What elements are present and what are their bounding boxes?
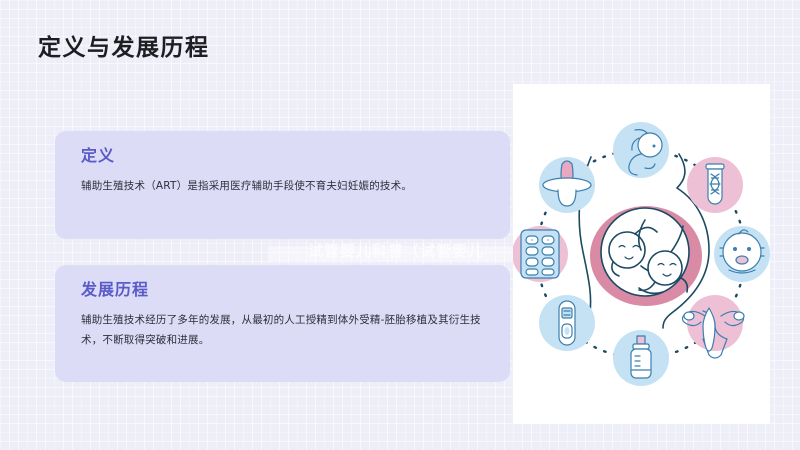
page-title: 定义与发展历程 bbox=[38, 28, 210, 62]
watermark-band bbox=[268, 246, 514, 261]
card-definition-body: 辅助生殖技术（ART）是指采用医疗辅助手段使不育夫妇妊娠的技术。 bbox=[81, 177, 484, 197]
baby-bottle-icon bbox=[613, 330, 669, 386]
dna-test-tube-icon bbox=[687, 157, 743, 213]
pregnancy-test-icon bbox=[539, 295, 595, 351]
pill-blister-icon bbox=[513, 226, 568, 282]
fertility-cycle-illustration: .ln { fill:none; stroke:#1c4a63; stroke-… bbox=[513, 84, 770, 424]
baby-face-icon bbox=[714, 226, 770, 282]
pacifier-icon bbox=[539, 157, 595, 213]
fetus-icon bbox=[613, 122, 669, 178]
card-definition: 定义 辅助生殖技术（ART）是指采用医疗辅助手段使不育夫妇妊娠的技术。 bbox=[55, 131, 510, 239]
card-definition-heading: 定义 bbox=[81, 147, 484, 165]
watermark-text: 试管婴儿科普（试管婴儿 bbox=[308, 240, 484, 261]
card-history-heading: 发展历程 bbox=[81, 281, 484, 299]
slide-canvas: 定义与发展历程 定义 辅助生殖技术（ART）是指采用医疗辅助手段使不育夫妇妊娠的… bbox=[0, 0, 800, 450]
illustration-panel: .ln { fill:none; stroke:#1c4a63; stroke-… bbox=[513, 84, 770, 424]
card-history: 发展历程 辅助生殖技术经历了多年的发展，从最初的人工授精到体外受精‑胚胎移植及其… bbox=[55, 265, 510, 382]
card-history-body: 辅助生殖技术经历了多年的发展，从最初的人工授精到体外受精‑胚胎移植及其衍生技术，… bbox=[81, 311, 484, 351]
